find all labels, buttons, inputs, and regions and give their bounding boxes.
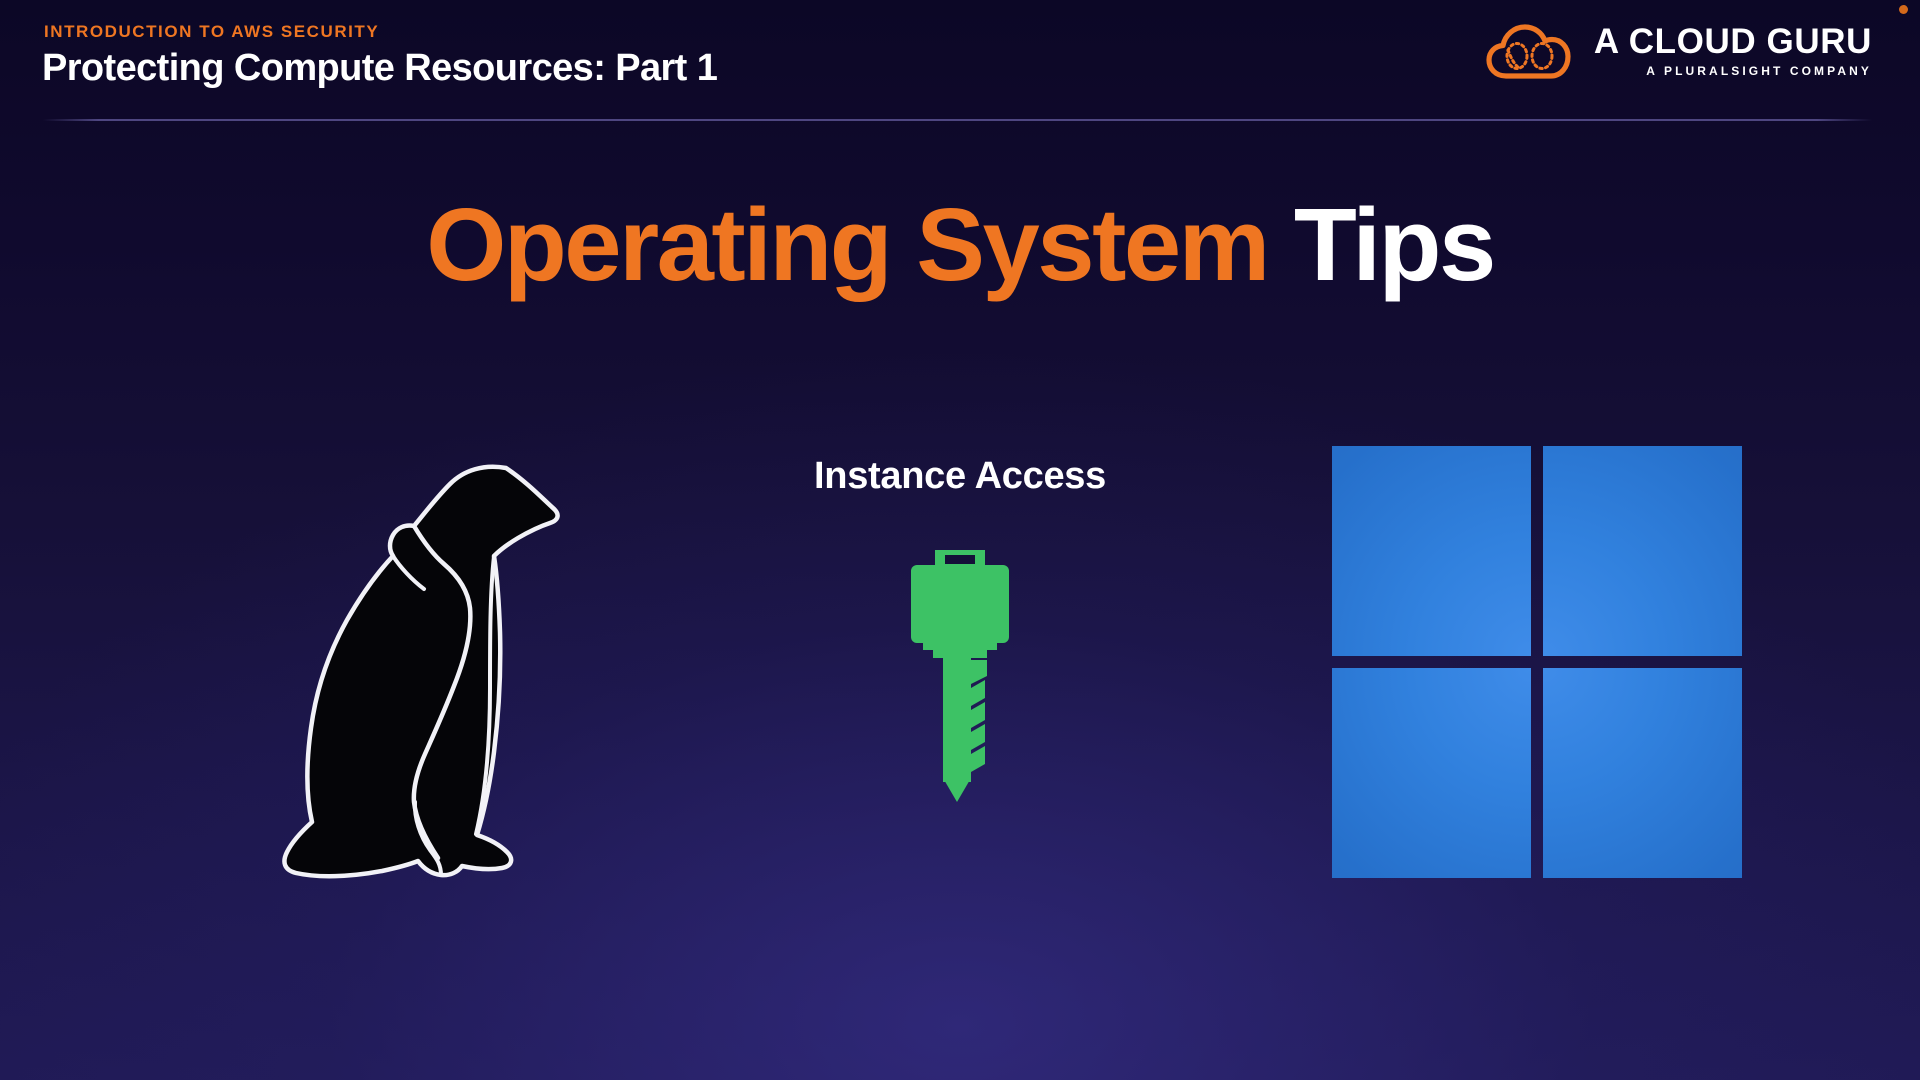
cloud-icon [1486, 22, 1572, 80]
slide-root: INTRODUCTION TO AWS SECURITY Protecting … [0, 0, 1920, 1080]
brand-logo-text: A CLOUD GURU A PLURALSIGHT COMPANY [1594, 24, 1872, 79]
header-divider [43, 119, 1872, 121]
corner-dot-marker [1899, 5, 1908, 14]
brand-logo: A CLOUD GURU A PLURALSIGHT COMPANY [1486, 22, 1872, 80]
windows-pane-bottom-right [1543, 668, 1742, 878]
page-title-plain: Tips [1268, 187, 1494, 302]
brand-name: A CLOUD GURU [1594, 24, 1872, 60]
page-title-accent: Operating System [426, 187, 1268, 302]
windows-pane-bottom-left [1332, 668, 1531, 878]
page-title: Operating System Tips [0, 188, 1920, 301]
windows-pane-top-right [1543, 446, 1742, 656]
slide-header: INTRODUCTION TO AWS SECURITY Protecting … [0, 0, 1920, 124]
brand-tagline: A PLURALSIGHT COMPANY [1646, 64, 1872, 78]
windows-pane-top-left [1332, 446, 1531, 656]
lesson-title: Protecting Compute Resources: Part 1 [42, 47, 717, 90]
course-eyebrow: INTRODUCTION TO AWS SECURITY [44, 22, 379, 42]
windows-logo-icon [1332, 446, 1742, 878]
